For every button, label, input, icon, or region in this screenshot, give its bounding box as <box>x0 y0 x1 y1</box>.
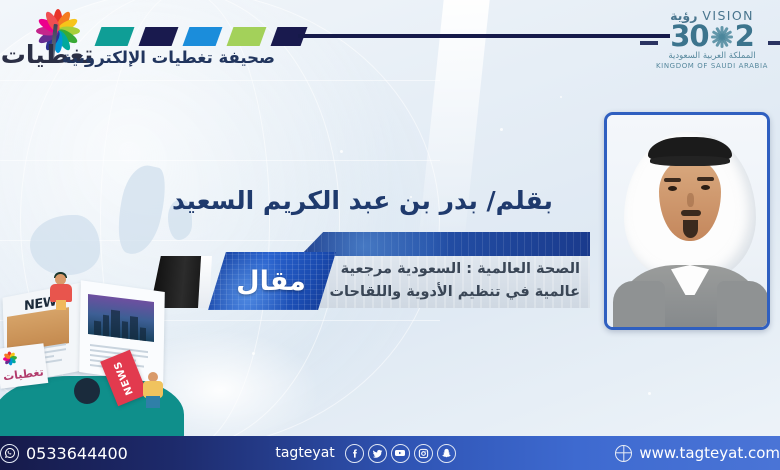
header-rule <box>298 34 670 38</box>
social-links[interactable]: tagteyat <box>275 444 455 463</box>
eye <box>668 186 677 191</box>
article-banner-graphic: تغطيات صحيفة تغطيات الإلكترونية VISION ر… <box>0 0 780 470</box>
vision-year-left: 2 <box>735 23 754 51</box>
bar-blue <box>183 27 223 46</box>
sparkle <box>648 392 651 395</box>
website-url: www.tagteyat.com <box>639 444 780 462</box>
vision-rule <box>768 41 780 45</box>
igal <box>650 156 730 166</box>
author-portrait <box>604 112 770 330</box>
bar-teal <box>95 27 135 46</box>
brand-logo[interactable]: تغطيات <box>4 2 94 84</box>
brand-poster: تغطيات <box>0 343 48 389</box>
category-badge: مقال <box>212 256 330 306</box>
phone-number: 0533644400 <box>26 444 128 463</box>
article-byline: بقلم/ بدر بن عبد الكريم السعيد <box>172 186 592 215</box>
beard <box>683 220 698 238</box>
footer-bar: www.tagteyat.com tagteyat <box>0 436 780 470</box>
sparkle <box>252 352 255 355</box>
eyebrow <box>664 178 681 182</box>
youtube-icon[interactable] <box>391 444 410 463</box>
portrait-photo <box>607 115 767 327</box>
news-flyer-label: NEWS <box>112 360 135 397</box>
globe-parallel <box>0 160 440 161</box>
sparkle <box>560 96 562 98</box>
poster-wordmark: تغطيات <box>2 365 44 383</box>
website-link[interactable]: www.tagteyat.com <box>621 444 780 462</box>
person-figure-reading <box>48 274 74 308</box>
kingdom-label-en: KINGDOM OF SAUDI ARABIA <box>652 62 772 70</box>
headline-line-1: الصحة العالمية : السعودية مرجعية <box>308 258 580 281</box>
city-building <box>122 321 128 339</box>
vision-2030-logo: VISION رؤية 2 30 المملكة العربية السعودي… <box>652 8 772 70</box>
banner-top-strip <box>300 232 590 256</box>
person-figure-sitting <box>140 372 168 412</box>
social-handle: tagteyat <box>275 445 334 461</box>
shoulder <box>613 281 665 330</box>
city-building <box>103 315 109 337</box>
publication-title: صحيفة تغطيات الإلكترونية <box>62 48 312 67</box>
vision-year-right: 30 <box>670 23 708 51</box>
sparkle <box>340 150 343 153</box>
shoulder <box>717 281 769 330</box>
article-headline: الصحة العالمية : السعودية مرجعية عالمية … <box>308 258 586 306</box>
eye <box>701 185 710 190</box>
whatsapp-icon <box>0 444 19 463</box>
legs <box>146 396 160 408</box>
whatsapp-contact[interactable]: 0533644400 <box>0 444 128 463</box>
city-building <box>140 327 146 341</box>
newspaper-illustration: NEWS تغطيات NEWS <box>0 268 175 438</box>
sparkle <box>500 128 503 131</box>
bar-navy <box>139 27 179 46</box>
colorful-flower-icon <box>0 349 20 367</box>
city-building <box>130 316 138 340</box>
vision-rule <box>640 41 658 45</box>
headline-banner: الصحة العالمية : السعودية مرجعية عالمية … <box>120 232 590 314</box>
saudi-emblem-palm-swords-icon <box>710 25 734 49</box>
twitter-icon[interactable] <box>368 444 387 463</box>
headline-line-2: عالمية في تنظيم الأدوية واللقاحات <box>308 281 580 304</box>
instagram-icon[interactable] <box>414 444 433 463</box>
facebook-icon[interactable] <box>345 444 364 463</box>
bar-green <box>227 27 267 46</box>
city-building <box>111 310 120 338</box>
city-building <box>94 321 101 336</box>
legs <box>56 300 66 310</box>
newspaper-photo-city <box>88 294 154 342</box>
snapchat-icon[interactable] <box>437 444 456 463</box>
moustache <box>681 210 701 216</box>
banner-header: تغطيات صحيفة تغطيات الإلكترونية VISION ر… <box>0 0 780 84</box>
kingdom-label-ar: المملكة العربية السعودية <box>652 51 772 61</box>
eyebrow <box>697 177 714 181</box>
globe-icon <box>615 445 632 462</box>
nose <box>687 193 694 207</box>
decorative-circle <box>74 378 100 404</box>
